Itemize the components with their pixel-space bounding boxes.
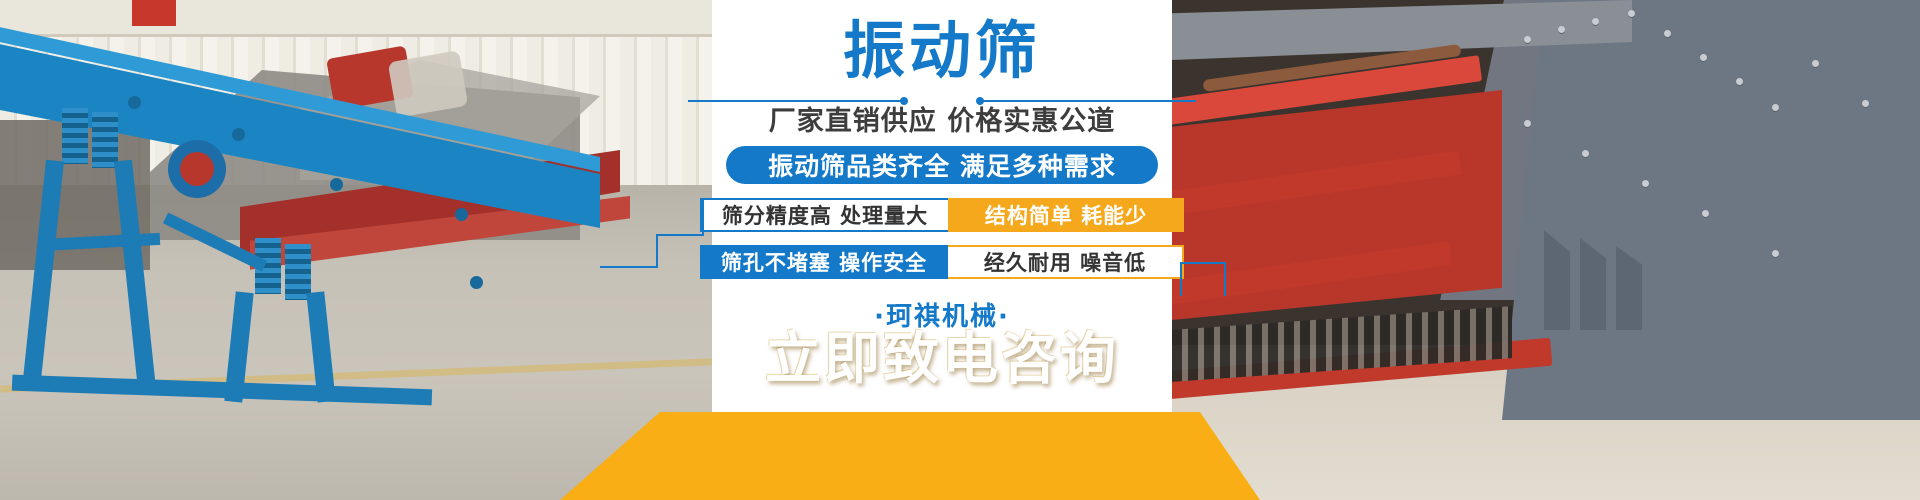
feature-row-1: 筛分精度高 处理量大 结构简单 耗能少 [700,198,1184,232]
side-plate-bolt [1582,150,1589,157]
side-plate-bolt [1642,180,1649,187]
right-product-photo [1172,0,1920,500]
feature-row-2-right: 经久耐用 噪音低 [948,245,1184,279]
bracket-vertical [1180,262,1182,296]
highlight-pill: 振动筛品类齐全 满足多种需求 [726,146,1158,184]
bracket-horizontal [1180,262,1226,264]
frame-bolt [470,276,483,289]
side-plate-bolt [1524,120,1531,127]
side-plate-bolt [1702,210,1709,217]
feature-row-1-right: 结构简单 耗能少 [948,198,1184,232]
side-plate-bolt [1772,104,1779,111]
side-plate-bolt [1736,78,1743,85]
bracket-horizontal [1224,294,1226,296]
frame-bolt [232,128,245,141]
feature-row-1-left: 筛分精度高 处理量大 [700,198,948,232]
subtitle: 厂家直销供应 价格实惠公道 [712,102,1172,142]
support-spring [62,108,88,164]
frame-bolt [330,178,343,191]
support-spring [92,112,118,168]
frame-bolt [128,96,141,109]
side-plate-bolt [1700,54,1707,61]
orange-bottom-band [560,412,1260,500]
wall-sign [132,0,176,26]
side-plate-bolt [1592,18,1599,25]
left-product-photo [0,0,712,500]
promotional-banner: 振动筛 厂家直销供应 价格实惠公道 振动筛品类齐全 满足多种需求 筛分精度高 处… [0,0,1920,500]
side-plate-bolt [1524,36,1531,43]
grey-side-plate [1502,0,1920,420]
bracket-vertical [702,200,704,236]
side-plate-bolt [1628,10,1635,17]
side-plate-bolt [1772,250,1779,257]
vibrator-hub [168,140,226,198]
bracket-horizontal [600,266,658,268]
side-plate-bolt [1664,30,1671,37]
side-plate-bolt [1558,26,1565,33]
frame-bolt [455,208,468,221]
bracket-vertical [656,234,658,268]
bracket-vertical [1224,262,1226,296]
side-plate-bolt [1812,60,1819,67]
feature-row-2: 筛孔不堵塞 操作安全 经久耐用 噪音低 [700,245,1184,279]
support-spring [285,244,311,300]
side-plate-bolt [1862,100,1869,107]
bracket-horizontal [656,234,704,236]
wall-beam [0,0,712,37]
cta-text: 立即致电咨询 [712,326,1172,392]
feature-row-2-left: 筛孔不堵塞 操作安全 [700,245,948,279]
page-title: 振动筛 [712,16,1172,86]
